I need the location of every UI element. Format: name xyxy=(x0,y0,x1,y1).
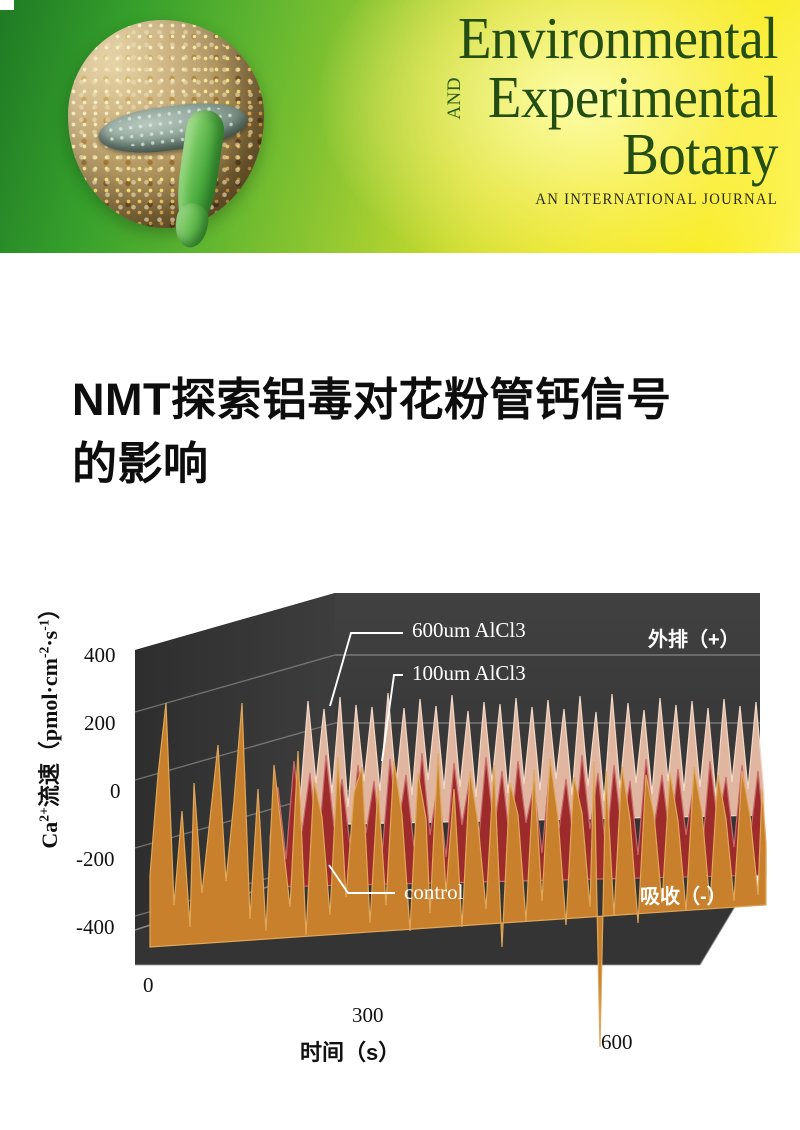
y-tick--200: -200 xyxy=(76,847,115,872)
journal-wordmark: Environmental AND Experimental Botany AN… xyxy=(328,10,778,209)
y-axis-label-exp2: -1 xyxy=(37,619,52,630)
annotation-600um-alcl3: 600um AlCl3 xyxy=(412,618,526,643)
y-axis-label-charge: 2+ xyxy=(37,807,52,822)
annotation-influx: 吸收（-） xyxy=(640,880,727,909)
journal-title-line-2-row: AND Experimental xyxy=(328,69,778,126)
pollen-grain-image xyxy=(62,14,276,236)
journal-title-line-3: Botany xyxy=(360,126,779,183)
x-tick-600: 600 xyxy=(601,1030,633,1055)
journal-title-line-1: Environmental xyxy=(360,10,779,67)
y-axis-label-suffix: ） xyxy=(37,597,62,619)
annotation-control: control xyxy=(404,880,463,905)
annotation-efflux: 外排（+） xyxy=(648,623,740,652)
x-axis-label: 时间（s） xyxy=(300,1035,400,1067)
y-tick-0: 0 xyxy=(110,779,121,804)
journal-title-line-2: Experimental xyxy=(488,69,778,126)
page-title: NMT探索铝毒对花粉管钙信号的影响 xyxy=(72,368,672,496)
journal-header-banner: Environmental AND Experimental Botany AN… xyxy=(0,0,800,253)
journal-title-and: AND xyxy=(445,77,464,120)
chart-figure: Ca2+流速（pmol·cm-2·s-1） 400 200 0 -200 -40… xyxy=(0,575,800,1080)
journal-subtitle: AN INTERNATIONAL JOURNAL xyxy=(351,191,779,209)
y-tick-400: 400 xyxy=(84,643,116,668)
x-tick-300: 300 xyxy=(352,1003,384,1028)
y-tick-200: 200 xyxy=(84,711,116,736)
annotation-100um-alcl3: 100um AlCl3 xyxy=(412,661,526,686)
y-tick--400: -400 xyxy=(76,915,115,940)
y-axis-label: Ca2+流速（pmol·cm-2·s-1） xyxy=(32,558,64,888)
y-axis-label-mid2: ·s xyxy=(37,631,62,647)
x-tick-0: 0 xyxy=(143,973,154,998)
y-axis-label-exp1: -2 xyxy=(37,647,52,658)
y-axis-label-mid: 流速（pmol·cm xyxy=(37,658,62,807)
y-axis-label-prefix: Ca xyxy=(37,822,62,849)
banner-top-strip xyxy=(0,0,14,10)
